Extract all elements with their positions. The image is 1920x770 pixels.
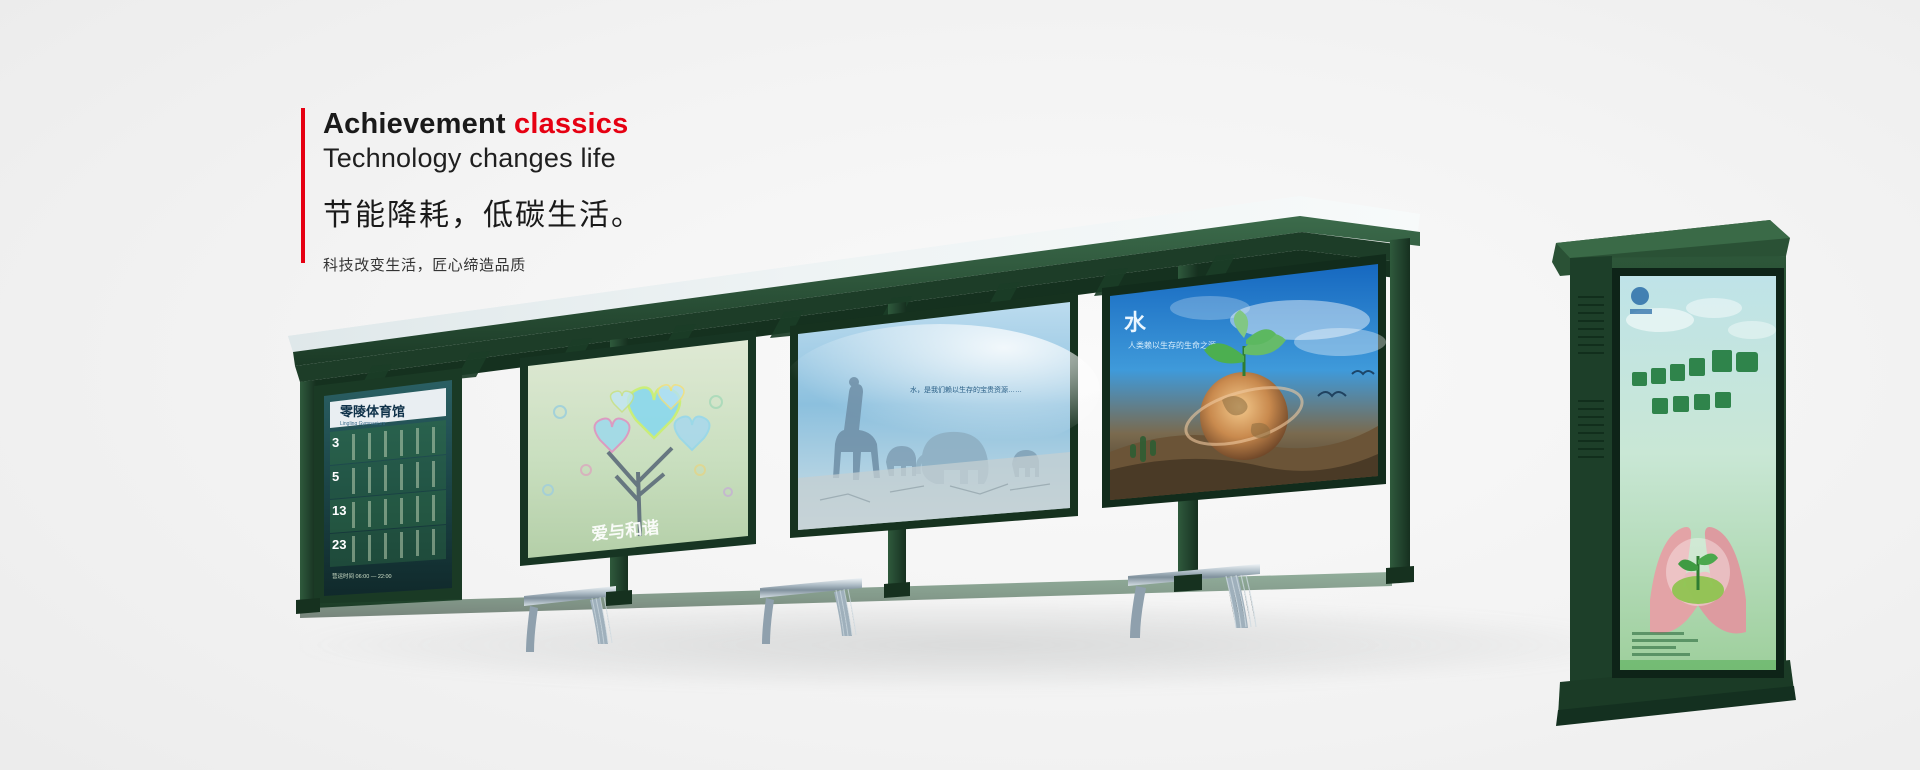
globe <box>1200 372 1288 460</box>
tower-lightbox-screen <box>1620 276 1776 670</box>
schedule-footer: 营运时间 06:00 — 22:00 <box>332 572 392 580</box>
panel-lightbox-3: 水 人类赖以生存的生命之源 <box>1102 254 1386 508</box>
svg-text:3: 3 <box>332 435 339 450</box>
panel-lightbox-2: 水，是我们赖以生存的宝贵资源…… <box>780 292 1100 538</box>
lightbox2-headline: 水，是我们赖以生存的宝贵资源…… <box>910 385 1022 394</box>
bus-shelter-render: 零陵体育馆 Lingling Gymnasium 3 5 13 23 <box>0 0 1920 770</box>
lightbox3-headline: 水 <box>1124 310 1147 335</box>
svg-text:23: 23 <box>332 537 346 552</box>
schedule-title: 零陵体育馆 <box>339 404 405 419</box>
panel-schedule-board: 零陵体育馆 Lingling Gymnasium 3 5 13 23 <box>314 368 462 608</box>
bench-2 <box>760 578 862 644</box>
post-1 <box>300 380 316 606</box>
schedule-title-pinyin: Lingling Gymnasium <box>340 421 385 427</box>
panel-lightbox-1: 爱与和谐 <box>520 330 756 566</box>
svg-text:13: 13 <box>332 503 346 518</box>
lightbox3-subhead: 人类赖以生存的生命之源 <box>1128 340 1216 350</box>
svg-text:5: 5 <box>332 469 339 484</box>
bench-1 <box>524 586 616 652</box>
tower-louver-column <box>1570 256 1612 718</box>
post-5 <box>1390 238 1410 574</box>
schedule-rows <box>330 420 446 567</box>
